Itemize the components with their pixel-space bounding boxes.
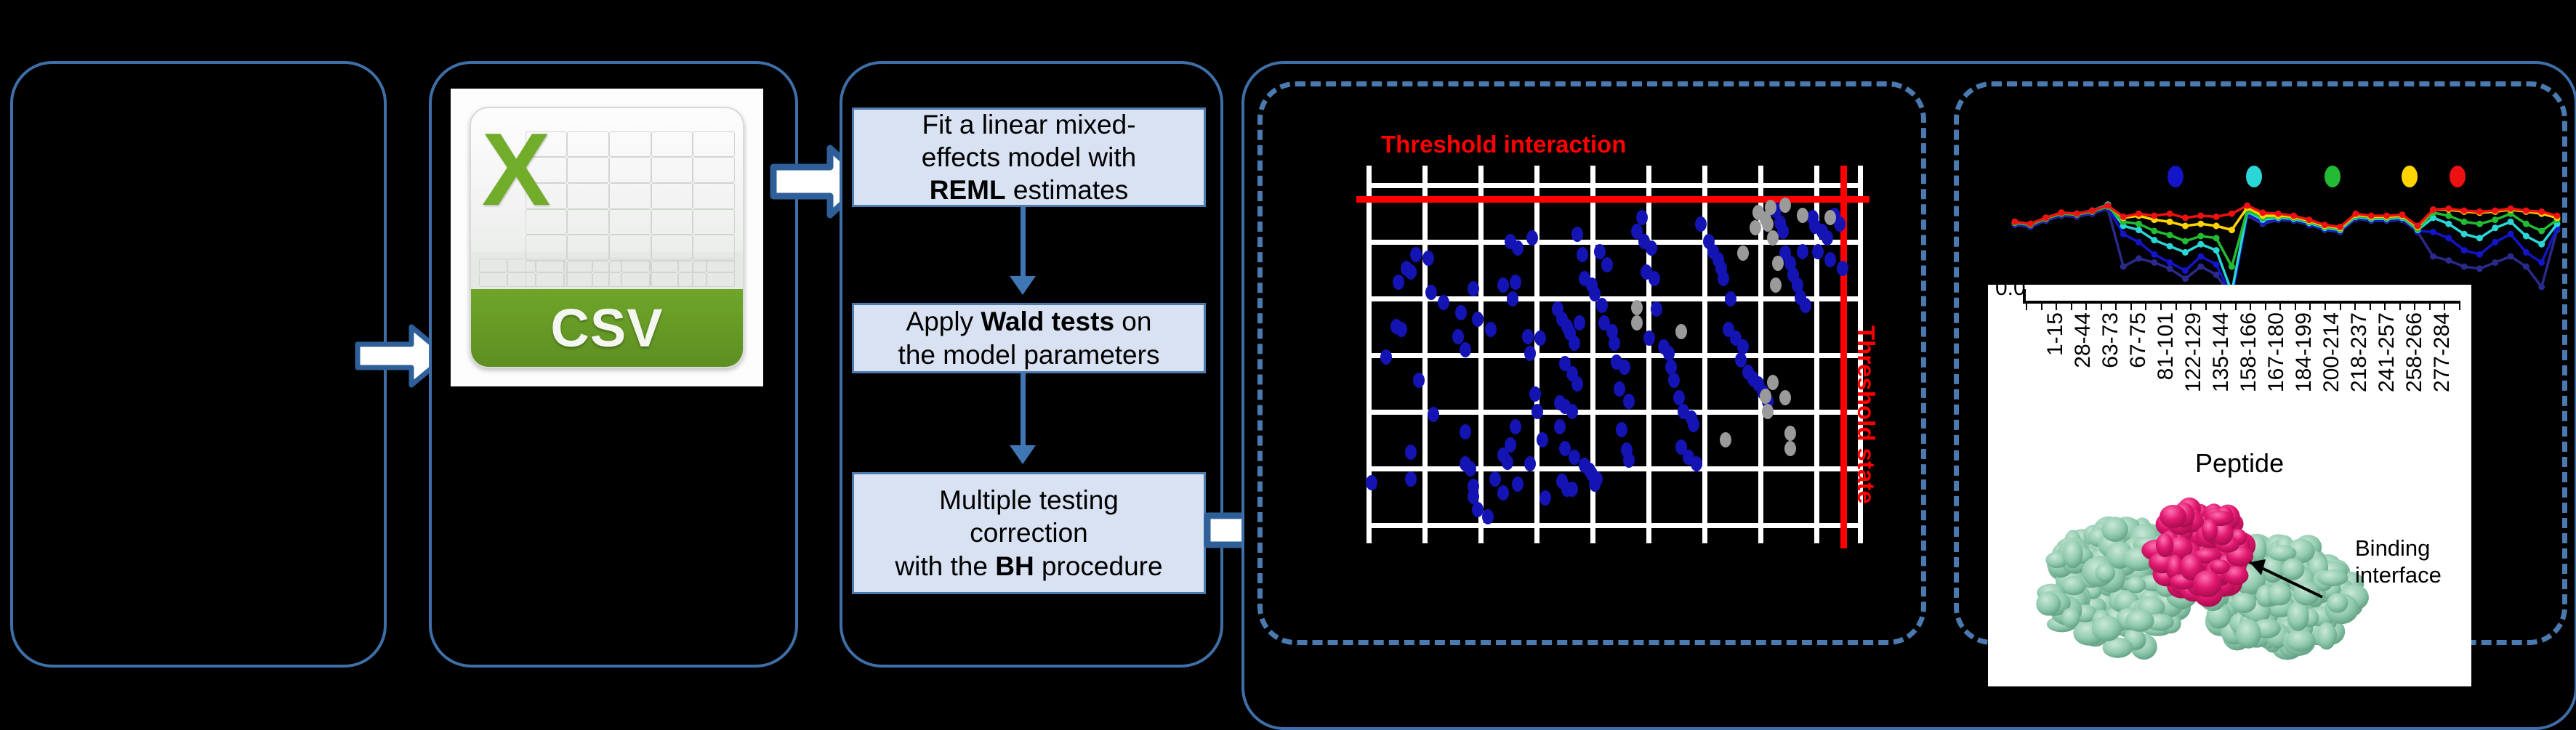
protein-surface-blob-green [2282, 559, 2305, 580]
protein-surface-blob-green [2125, 609, 2154, 631]
marker-series-red [2476, 208, 2483, 215]
scatter-point-significant [1489, 471, 1501, 487]
scatter-point-significant [1609, 336, 1620, 351]
scatter-plot: Threshold interaction Threshold state [1287, 116, 1890, 567]
scatter-point-significant [1468, 479, 1479, 494]
marker-series-navy [2182, 275, 2189, 282]
scatter-point-significant [1531, 404, 1543, 419]
marker-series-red [2461, 208, 2468, 214]
protein-surface-blob-green [2317, 569, 2348, 586]
protein-surface-blob-pink [2156, 533, 2173, 557]
scatter-point-significant [1497, 485, 1509, 500]
scatter-point-significant [1526, 230, 1538, 246]
marker-series-cyan [2151, 237, 2157, 243]
marker-series-navy [2492, 259, 2498, 266]
x-tick-label: 184-199 [2292, 312, 2317, 392]
scatter-point-significant [1468, 281, 1479, 296]
excel-x-letter: X [482, 118, 551, 222]
marker-series-cyan [2523, 233, 2529, 240]
marker-series-green [2213, 235, 2220, 241]
scatter-point-significant [1668, 373, 1680, 388]
scatter-point-significant [1623, 394, 1635, 409]
step-bh-box[interactable]: Multiple testing correction with the BH … [852, 472, 1206, 594]
scatter-point-nonsignificant [1779, 198, 1791, 213]
scatter-point-significant [1380, 349, 1392, 365]
marker-series-green [2492, 216, 2498, 223]
marker-series-red [2229, 211, 2235, 217]
marker-series-red [2399, 211, 2405, 218]
scatter-point-significant [1524, 346, 1536, 361]
marker-series-green [2523, 221, 2529, 227]
marker-series-navy [2430, 254, 2436, 260]
protein-surface-blob-pink [2160, 505, 2186, 528]
x-tick-label: 218-237 [2347, 312, 2372, 392]
x-tick-label: 277-284 [2430, 312, 2455, 392]
legend-dot-cyan [2246, 166, 2262, 187]
scatter-point-significant [1649, 271, 1660, 286]
scatter-point-nonsignificant [1737, 246, 1749, 261]
marker-series-cyan [2167, 243, 2173, 250]
marker-series-red [2244, 203, 2250, 209]
protein-surface-blob-green [2287, 601, 2309, 630]
scatter-point-significant [1636, 210, 1648, 225]
scatter-point-significant [1596, 298, 1608, 313]
step-bh-l3post: procedure [1034, 551, 1163, 581]
marker-series-red [2197, 213, 2204, 219]
scatter-point-nonsignificant [1797, 208, 1808, 223]
scatter-point-significant [1601, 257, 1613, 272]
marker-series-navy [2476, 265, 2483, 272]
protein-surface-blob-green [2095, 564, 2115, 583]
legend-dot-blue [2168, 166, 2183, 187]
marker-series-red [2337, 224, 2343, 230]
marker-series-blue [2523, 249, 2529, 256]
scatter-point-significant [1366, 475, 1377, 490]
protein-surface-blob-green [2092, 615, 2122, 641]
x-tick-label: 158-166 [2237, 312, 2261, 392]
scatter-point-significant [1452, 329, 1464, 344]
scatter-point-significant [1824, 252, 1836, 267]
marker-series-red [2538, 208, 2545, 215]
marker-series-green [2182, 238, 2189, 245]
x-tick-label: 81-101 [2154, 312, 2178, 380]
x-tick-label: 167-180 [2264, 312, 2289, 392]
marker-series-green [2461, 219, 2468, 225]
scatter-point-significant [1422, 251, 1434, 266]
scatter-point-significant [1571, 227, 1583, 242]
marker-series-red [2508, 206, 2514, 212]
x-tick-label: 28-44 [2071, 312, 2096, 368]
scatter-point-significant [1405, 445, 1417, 460]
x-tick-label: 135-144 [2209, 312, 2234, 392]
scatter-point-significant [1524, 456, 1536, 471]
scatter-point-significant [1510, 275, 1521, 290]
scatter-point-significant [1566, 404, 1578, 419]
marker-series-red [2136, 211, 2142, 217]
peptide-axis-and-structure-plate: 0.0 1-1528-4463-7367-7581-101122-129135-… [1988, 285, 2471, 686]
connector-reml-to-wald [1021, 207, 1026, 280]
binding-interface-line2: interface [2355, 562, 2442, 589]
marker-series-blue [2508, 231, 2514, 238]
marker-series-yellow [2167, 219, 2173, 225]
peptide-line-chart [2006, 185, 2566, 301]
marker-series-red [2104, 203, 2111, 209]
marker-series-cyan [2182, 249, 2189, 256]
protein-surface-blob-green [2285, 630, 2315, 652]
csv-spreadsheet-grid-lower [479, 259, 735, 287]
protein-surface-blob-green [2231, 593, 2256, 613]
scatter-point-significant [1812, 244, 1824, 259]
step-bh-l2: correction [970, 518, 1087, 548]
scatter-point-significant [1725, 291, 1736, 307]
csv-file-icon: X CSV [470, 107, 744, 369]
csv-file-image: X CSV [451, 89, 763, 386]
scatter-point-nonsignificant [1760, 389, 1771, 404]
marker-series-red [2383, 213, 2390, 219]
step-reml-line2: effects model with [922, 142, 1136, 172]
marker-series-red [2306, 216, 2312, 223]
scatter-point-significant [1485, 322, 1497, 337]
marker-series-red [2430, 206, 2436, 213]
marker-series-blue [2151, 251, 2157, 258]
input-panel [10, 61, 387, 668]
marker-series-red [2027, 221, 2034, 227]
scatter-point-nonsignificant [1631, 300, 1643, 315]
marker-series-cyan [2213, 247, 2220, 254]
scatter-point-significant [1594, 244, 1606, 259]
scatter-point-significant [1393, 275, 1404, 290]
marker-series-cyan [2136, 227, 2142, 233]
scatter-point-significant [1718, 271, 1729, 286]
step-reml-box[interactable]: Fit a linear mixed- effects model with R… [852, 108, 1206, 207]
binding-interface-annotation: Binding interface [2355, 535, 2442, 588]
step-wald-line2: the model parameters [898, 340, 1160, 370]
step-wald-box[interactable]: Apply Wald tests on the model parameters [852, 303, 1206, 373]
scatter-point-nonsignificant [1770, 277, 1782, 293]
scatter-point-nonsignificant [1772, 256, 1784, 271]
protein-surface-blob-green [2061, 608, 2080, 628]
scatter-point-significant [1797, 244, 1808, 259]
marker-series-red [2322, 222, 2328, 228]
scatter-point-significant [1410, 247, 1422, 262]
marker-series-navy [2461, 264, 2468, 270]
scatter-point-significant [1643, 330, 1655, 346]
scatter-point-nonsignificant [1784, 441, 1796, 456]
marker-series-green [2151, 228, 2157, 235]
marker-series-red [2445, 206, 2452, 212]
marker-series-red [2074, 211, 2080, 217]
marker-series-blue [2136, 239, 2142, 246]
connector-wald-to-bh-head [1010, 445, 1036, 464]
scatter-point-significant [1537, 432, 1548, 447]
marker-series-green [2197, 233, 2204, 240]
scatter-point-significant [1822, 230, 1833, 246]
scatter-point-significant [1651, 301, 1662, 317]
marker-series-cyan [2508, 219, 2514, 225]
scatter-point-significant [1497, 277, 1509, 293]
scatter-point-significant [1623, 453, 1635, 468]
marker-series-red [2368, 213, 2375, 219]
scatter-point-significant [1614, 381, 1625, 397]
marker-series-navy [2508, 254, 2514, 260]
csv-label: CSV [550, 297, 663, 359]
marker-series-red [2012, 219, 2018, 225]
marker-series-yellow [2182, 223, 2189, 230]
marker-series-red [2089, 208, 2096, 214]
marker-series-red [2120, 214, 2127, 220]
scatter-point-significant [1574, 315, 1585, 330]
marker-series-navy [2136, 255, 2142, 261]
step-wald-pre: Apply [906, 307, 981, 336]
protein-surface-blob-green [2125, 577, 2146, 593]
step-bh-l3pre: with the [895, 551, 995, 581]
legend-dot-yellow [2402, 166, 2418, 187]
scatter-point-significant [1569, 336, 1580, 351]
scatter-point-nonsignificant [1767, 230, 1779, 246]
marker-series-navy [2167, 265, 2173, 272]
protein-surface-blob-green [2327, 593, 2348, 613]
scatter-point-significant [1837, 261, 1848, 276]
x-tick-label: 258-266 [2402, 312, 2427, 392]
marker-series-blue [2476, 251, 2483, 258]
scatter-point-significant [1460, 342, 1471, 357]
scatter-point-nonsignificant [1767, 375, 1779, 390]
scatter-point-significant [1405, 471, 1417, 487]
marker-series-red [2213, 214, 2220, 220]
protein-surface-blob-green [2036, 592, 2061, 616]
binding-interface-line1: Binding [2355, 535, 2442, 562]
marker-series-navy [2213, 272, 2220, 278]
marker-series-cyan [2197, 241, 2204, 248]
marker-series-green [2538, 228, 2545, 235]
marker-series-cyan [2492, 224, 2498, 231]
scatter-point-nonsignificant [1750, 220, 1761, 235]
marker-series-navy [2538, 284, 2545, 291]
marker-series-blue [2120, 231, 2127, 238]
scatter-point-significant [1663, 346, 1675, 361]
marker-series-green [2476, 221, 2483, 227]
scatter-point-significant [1571, 376, 1583, 392]
marker-series-green [2445, 213, 2452, 219]
scatter-point-significant [1834, 216, 1846, 232]
scatter-point-significant [1646, 240, 1657, 256]
marker-series-cyan [2445, 221, 2452, 227]
scatter-point-significant [1616, 422, 1627, 437]
marker-series-blue [2197, 254, 2204, 260]
marker-series-navy [2120, 264, 2127, 270]
marker-series-cyan [2476, 235, 2483, 241]
connector-wald-to-bh [1021, 373, 1026, 449]
marker-series-red [2058, 209, 2064, 216]
connector-reml-to-wald-head [1010, 276, 1036, 295]
scatter-point-nonsignificant [1765, 200, 1776, 215]
marker-series-red [2275, 211, 2282, 217]
marker-series-red [2523, 208, 2529, 214]
marker-series-red [2151, 213, 2157, 219]
x-tick-label: 63-73 [2098, 312, 2123, 368]
scatter-point-significant [1425, 285, 1437, 300]
scatter-point-layer [1287, 116, 1890, 567]
scatter-point-significant [1510, 419, 1521, 434]
x-tick-label: 67-75 [2126, 312, 2151, 368]
x-axis-title: Peptide [2195, 448, 2284, 479]
step-wald-post: on [1114, 307, 1151, 336]
marker-series-green [2229, 264, 2235, 270]
scatter-point-significant [1554, 419, 1566, 434]
scatter-point-significant [1591, 471, 1603, 487]
scatter-point-significant [1396, 322, 1407, 337]
step-bh-bold: BH [995, 551, 1034, 581]
marker-series-blue [2461, 247, 2468, 254]
scatter-point-significant [1405, 264, 1417, 280]
marker-series-red [2492, 208, 2498, 214]
legend-dot-red [2450, 166, 2466, 187]
scatter-point-nonsignificant [1631, 315, 1643, 330]
protein-surface-blob-green [2236, 619, 2261, 648]
step-wald-bold: Wald tests [981, 307, 1114, 336]
marker-series-cyan [2461, 231, 2468, 238]
x-tick-label: 200-214 [2319, 312, 2344, 392]
protein-structure-image [2032, 481, 2395, 677]
protein-surface-blob-green [2317, 622, 2336, 650]
scatter-point-significant [1800, 298, 1811, 313]
marker-series-yellow [2197, 221, 2204, 227]
scatter-point-significant [1438, 295, 1449, 310]
scatter-point-nonsignificant [1784, 426, 1796, 441]
marker-series-green [2136, 221, 2142, 227]
scatter-point-nonsignificant [1762, 404, 1774, 419]
protein-surface-blob-pink [2193, 570, 2221, 597]
scatter-point-significant [1695, 216, 1707, 232]
x-tick-label: 1-15 [2043, 312, 2068, 356]
marker-series-red [2167, 211, 2173, 217]
x-tick-label: 241-257 [2375, 312, 2399, 392]
scatter-point-significant [1691, 456, 1702, 471]
step-reml-line3: estimates [1013, 175, 1128, 205]
protein-surface-blob-green [2268, 583, 2292, 606]
marker-series-blue [2167, 259, 2173, 266]
marker-series-blue [2182, 267, 2189, 274]
scatter-point-significant [1460, 424, 1471, 439]
marker-series-yellow [2213, 223, 2220, 230]
x-tick-label: 122-129 [2181, 312, 2206, 392]
marker-series-blue [2213, 261, 2220, 268]
marker-series-red [2042, 214, 2049, 221]
scatter-point-significant [1428, 407, 1439, 422]
step-bh-l1: Multiple testing [939, 485, 1119, 515]
marker-series-blue [2445, 235, 2452, 241]
marker-series-blue [2430, 229, 2436, 235]
scatter-point-nonsignificant [1675, 324, 1687, 339]
scatter-point-significant [1688, 417, 1699, 432]
scatter-point-significant [1534, 330, 1546, 346]
marker-series-green [2167, 232, 2173, 238]
scatter-point-nonsignificant [1824, 210, 1836, 225]
marker-series-yellow [2229, 227, 2235, 233]
scatter-point-nonsignificant [1779, 390, 1791, 405]
marker-series-navy [2197, 264, 2204, 270]
csv-label-band: CSV [471, 289, 743, 367]
marker-series-blue [2538, 259, 2545, 266]
scatter-point-significant [1413, 373, 1425, 388]
scatter-point-significant [1566, 482, 1578, 497]
marker-series-cyan [2538, 241, 2545, 248]
scatter-point-significant [1673, 390, 1685, 405]
scatter-point-significant [1507, 291, 1518, 307]
scatter-point-significant [1512, 240, 1524, 256]
scatter-point-significant [1472, 312, 1484, 327]
marker-series-red [2182, 214, 2189, 221]
scatter-point-significant [1529, 386, 1541, 402]
marker-series-navy [2523, 264, 2529, 270]
marker-series-blue [2492, 239, 2498, 246]
step-reml-bold: REML [930, 175, 1006, 205]
protein-surface-blob-green [2101, 517, 2128, 542]
scatter-point-significant [1577, 247, 1588, 262]
marker-series-red [2352, 211, 2359, 217]
scatter-point-significant [1777, 224, 1789, 239]
protein-surface-blob-pink [2202, 519, 2218, 542]
scatter-point-significant [1497, 447, 1509, 463]
marker-series-red [2260, 209, 2266, 216]
protein-surface-blob-green [2063, 540, 2083, 569]
scatter-point-significant [1539, 490, 1551, 506]
scatter-point-significant [1619, 360, 1630, 375]
scatter-point-significant [1482, 509, 1494, 524]
marker-series-red [2415, 223, 2421, 230]
marker-series-red [2290, 213, 2297, 219]
scatter-point-significant [1512, 476, 1524, 492]
marker-series-navy [2151, 259, 2157, 266]
step-reml-line1: Fit a linear mixed- [922, 110, 1135, 139]
scatter-point-significant [1455, 305, 1467, 320]
marker-series-navy [2445, 257, 2452, 264]
scatter-point-significant [1522, 329, 1534, 344]
scatter-point-nonsignificant [1720, 432, 1731, 447]
legend-dot-green [2325, 166, 2340, 187]
marker-series-red [2554, 213, 2561, 219]
